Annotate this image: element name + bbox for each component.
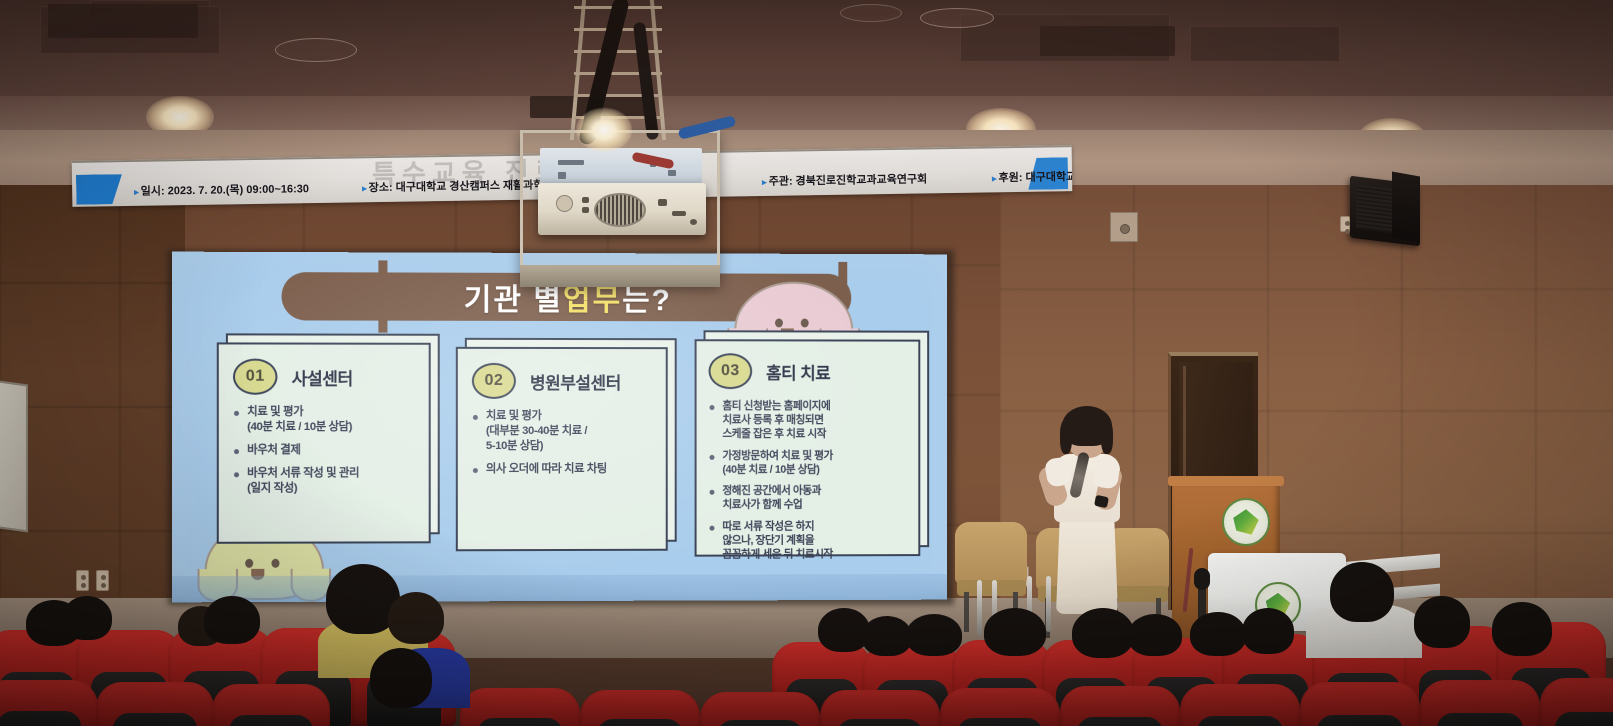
mount-slot bbox=[558, 172, 566, 179]
projector-mount-plate bbox=[540, 148, 702, 186]
banner-place-label: 장소 bbox=[369, 182, 389, 194]
power-outlet[interactable] bbox=[1340, 216, 1350, 232]
photo-scene: 특수교육 진로 컨퍼런스 일시: 2023. 7. 20.(목) 09:00~1… bbox=[0, 0, 1613, 726]
card-face: 01 사설센터 치료 및 평가 (40분 치료 / 10분 상담) 바우처 결제… bbox=[217, 342, 431, 543]
banner-date: 일시: 2023. 7. 20.(목) 09:00~16:30 bbox=[134, 180, 309, 199]
seat-cushion bbox=[113, 713, 198, 726]
banner-date-label: 일시 bbox=[141, 185, 161, 197]
projector-bracket bbox=[520, 265, 720, 287]
slide-card-01: 01 사설센터 치료 및 평가 (40분 치료 / 10분 상담) 바우처 결제… bbox=[217, 342, 431, 543]
card-bullet: 바우처 결제 bbox=[233, 443, 417, 458]
seat-cushion bbox=[957, 718, 1043, 726]
mascot-eye-right bbox=[272, 558, 280, 567]
seat-cushion bbox=[0, 711, 81, 726]
projector-lamp-glare bbox=[576, 108, 632, 152]
projector-lens bbox=[556, 195, 573, 212]
auditorium-seat[interactable] bbox=[96, 682, 214, 726]
card-bullet: 가정방문하여 치료 및 평가 (40분 치료 / 10분 상담) bbox=[709, 449, 911, 477]
presenter-speaker bbox=[1038, 410, 1134, 612]
card-bullet: 치료 및 평가 (대부분 30-40분 치료 / 5-10분 상담) bbox=[472, 409, 654, 454]
card-bullet-list: 치료 및 평가 (40분 치료 / 10분 상담) 바우처 결제 바우처 서류 … bbox=[233, 405, 417, 497]
seat-cushion bbox=[1197, 716, 1283, 726]
ceiling-fixture bbox=[840, 4, 902, 22]
seat-cushion bbox=[1555, 712, 1613, 726]
audience-head bbox=[1072, 608, 1134, 658]
audience-head bbox=[906, 614, 962, 656]
seat-cushion bbox=[1437, 713, 1523, 726]
audience-head bbox=[1330, 562, 1394, 622]
projector-button[interactable] bbox=[658, 199, 667, 206]
mascot-eye-left bbox=[775, 318, 783, 327]
banner-sponsor-label: 후원 bbox=[999, 172, 1019, 184]
projection-screen: 기관 별 업무는? 01 사설센터 치료 및 평가 (40분 치료 / 10분 … bbox=[172, 252, 947, 603]
seat-cushion bbox=[1317, 715, 1403, 726]
card-header: 01 사설센터 bbox=[233, 359, 417, 395]
card-number-badge: 02 bbox=[472, 363, 516, 399]
banner-host-value: 경북진로진학교과교육연구회 bbox=[796, 173, 928, 187]
auditorium-seat[interactable] bbox=[580, 690, 700, 726]
banner-sponsor-value: 대구대학교 bbox=[1026, 171, 1073, 184]
microphone-icon[interactable] bbox=[1194, 568, 1210, 590]
card-title: 홈티 치료 bbox=[766, 359, 830, 384]
ceiling-projector bbox=[538, 183, 706, 235]
auditorium-seat[interactable] bbox=[460, 688, 580, 726]
presenter-hair-side bbox=[1060, 420, 1072, 454]
card-face: 03 홈티 치료 홈티 신청받는 홈페이지에 치료사 등록 후 매칭되면 스케줄… bbox=[695, 339, 921, 556]
auditorium-seat[interactable] bbox=[1060, 686, 1180, 726]
card-header: 03 홈티 치료 bbox=[709, 353, 911, 389]
card-bullet: 정해진 공간에서 아동과 치료사가 함께 수업 bbox=[709, 484, 911, 513]
power-outlet[interactable] bbox=[76, 570, 89, 591]
audience-head bbox=[62, 596, 112, 640]
auditorium-seat[interactable] bbox=[212, 684, 330, 726]
seat-cushion bbox=[597, 719, 683, 726]
screen-lower-band bbox=[172, 574, 947, 602]
ladder-rung bbox=[574, 50, 662, 53]
banner-date-value: 2023. 7. 20.(목) 09:00~16:30 bbox=[168, 183, 309, 197]
slide-card-02: 02 병원부설센터 치료 및 평가 (대부분 30-40분 치료 / 5-10분… bbox=[456, 347, 668, 551]
card-header: 02 병원부설센터 bbox=[472, 363, 654, 399]
university-emblem-icon bbox=[1222, 498, 1270, 546]
mascot-eye-left bbox=[245, 558, 253, 567]
banner-sponsor: 후원: 대구대학교 bbox=[992, 168, 1072, 185]
auditorium-seat[interactable] bbox=[1540, 678, 1613, 726]
auditorium-seat[interactable] bbox=[820, 690, 940, 726]
audience-head bbox=[1190, 612, 1246, 656]
audience-head bbox=[370, 648, 432, 708]
projector-indicator bbox=[690, 219, 697, 225]
auditorium-seat[interactable] bbox=[0, 680, 98, 726]
projector-button[interactable] bbox=[582, 207, 589, 213]
power-outlet[interactable] bbox=[96, 570, 109, 591]
card-title: 병원부설센터 bbox=[530, 368, 621, 393]
auditorium-seat[interactable] bbox=[1420, 680, 1540, 726]
wall-speaker-side bbox=[1392, 172, 1420, 243]
card-bullet: 바우처 서류 작성 및 관리 (일지 작성) bbox=[233, 466, 417, 496]
audience-head bbox=[204, 596, 260, 644]
audience-head bbox=[388, 592, 444, 644]
mount-slot bbox=[668, 170, 676, 176]
projector-button[interactable] bbox=[582, 197, 589, 203]
slide-card-03: 03 홈티 치료 홈티 신청받는 홈페이지에 치료사 등록 후 매칭되면 스케줄… bbox=[695, 339, 921, 556]
control-knob[interactable] bbox=[1120, 224, 1130, 234]
card-bullet: 의사 오더에 따라 치료 차팅 bbox=[472, 462, 654, 477]
ceiling-vent bbox=[48, 4, 198, 38]
audience-head bbox=[1128, 614, 1182, 656]
auditorium-seat[interactable] bbox=[940, 688, 1060, 726]
chair-leg bbox=[964, 592, 969, 632]
stage-handrail bbox=[1046, 576, 1051, 632]
card-number-badge: 01 bbox=[233, 359, 278, 395]
card-bullet: 따로 서류 작성은 하지 않으나, 장단기 계획을 꼼꼼하게 세운 뒤 치료시작 bbox=[709, 519, 911, 562]
banner-accent-left bbox=[76, 174, 122, 205]
audience-head bbox=[862, 616, 912, 656]
card-bullet-list: 치료 및 평가 (대부분 30-40분 치료 / 5-10분 상담) 의사 오더… bbox=[472, 409, 654, 477]
wristwatch bbox=[1094, 495, 1109, 508]
seat-cushion bbox=[837, 719, 923, 726]
whiteboard bbox=[0, 379, 28, 532]
mount-slot bbox=[558, 160, 584, 165]
presenter-skirt bbox=[1056, 518, 1118, 614]
ceiling-light-ring bbox=[275, 38, 357, 62]
seat-cushion bbox=[229, 715, 314, 726]
card-title: 사설센터 bbox=[292, 364, 353, 389]
ceiling-panel bbox=[1190, 26, 1340, 62]
seat-cushion bbox=[1077, 717, 1163, 726]
audience-head bbox=[1414, 596, 1470, 648]
seat-cushion bbox=[717, 720, 803, 726]
audience-head bbox=[1492, 602, 1552, 656]
projector-button[interactable] bbox=[672, 211, 686, 216]
ceiling-soffit bbox=[0, 0, 1613, 96]
chair-back bbox=[955, 522, 1027, 584]
banner-host: 주관: 경북진로진학교과교육연구회 bbox=[762, 170, 927, 189]
wall-control-plate[interactable] bbox=[1110, 212, 1138, 242]
banner-host-label: 주관 bbox=[769, 176, 789, 188]
ceiling-vent bbox=[1040, 26, 1175, 56]
auditorium-seat[interactable] bbox=[1180, 684, 1300, 726]
seat-cushion bbox=[477, 718, 563, 726]
card-face: 02 병원부설센터 치료 및 평가 (대부분 30-40분 치료 / 5-10분… bbox=[456, 347, 668, 551]
auditorium-seat[interactable] bbox=[1300, 682, 1420, 726]
emblem-leaf bbox=[1233, 509, 1259, 535]
projector-vent bbox=[594, 193, 646, 227]
presenter-hair-side bbox=[1101, 420, 1113, 454]
mascot-eye-right bbox=[801, 318, 809, 327]
stage-handrail bbox=[977, 580, 982, 636]
audience-head bbox=[1242, 608, 1294, 654]
podium-top bbox=[1168, 476, 1284, 486]
ceiling-light-ring bbox=[920, 8, 994, 28]
card-bullet-list: 홈티 신청받는 홈페이지에 치료사 등록 후 매칭되면 스케줄 잡은 후 치료 … bbox=[709, 399, 911, 562]
card-bullet: 치료 및 평가 (40분 치료 / 10분 상담) bbox=[233, 405, 417, 435]
card-bullet: 홈티 신청받는 홈페이지에 치료사 등록 후 매칭되면 스케줄 잡은 후 치료 … bbox=[709, 399, 911, 442]
card-number-badge: 03 bbox=[709, 353, 753, 389]
auditorium-seat[interactable] bbox=[700, 692, 820, 726]
audience-head bbox=[984, 608, 1046, 656]
